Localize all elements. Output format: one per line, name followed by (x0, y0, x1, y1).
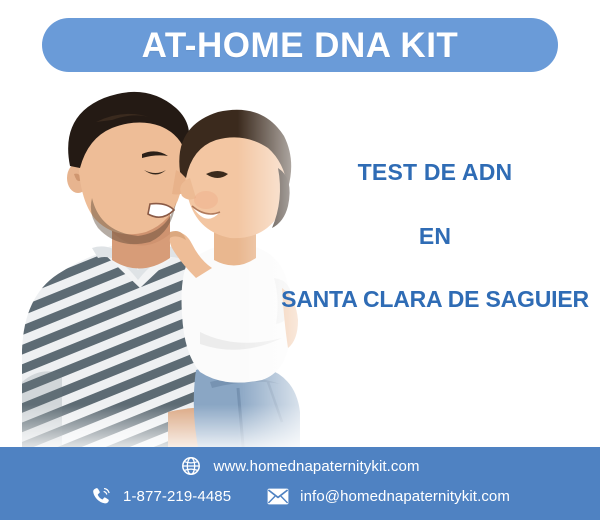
poster-canvas: AT-HOME DNA KIT (0, 0, 600, 520)
headline-line-2: EN (272, 224, 598, 248)
email-label[interactable]: info@homednapaternitykit.com (300, 488, 510, 505)
contact-footer: www.homednapaternitykit.com 1-877-219-44… (0, 447, 600, 520)
banner-title: AT-HOME DNA KIT (142, 28, 459, 63)
phone-icon (90, 485, 112, 507)
globe-icon (180, 455, 202, 477)
headline-line-1: TEST DE ADN (272, 160, 598, 184)
envelope-icon (267, 485, 289, 507)
headline-line-3: SANTA CLARA DE SAGUIER (272, 287, 598, 311)
banner-pill: AT-HOME DNA KIT (42, 18, 558, 72)
headline-block: TEST DE ADN EN SANTA CLARA DE SAGUIER (272, 160, 598, 311)
footer-row-contact: 1-877-219-4485 info@homednapaternitykit.… (0, 485, 600, 507)
footer-row-website: www.homednapaternitykit.com (0, 455, 600, 477)
phone-label[interactable]: 1-877-219-4485 (123, 488, 231, 505)
website-label[interactable]: www.homednapaternitykit.com (213, 458, 419, 475)
